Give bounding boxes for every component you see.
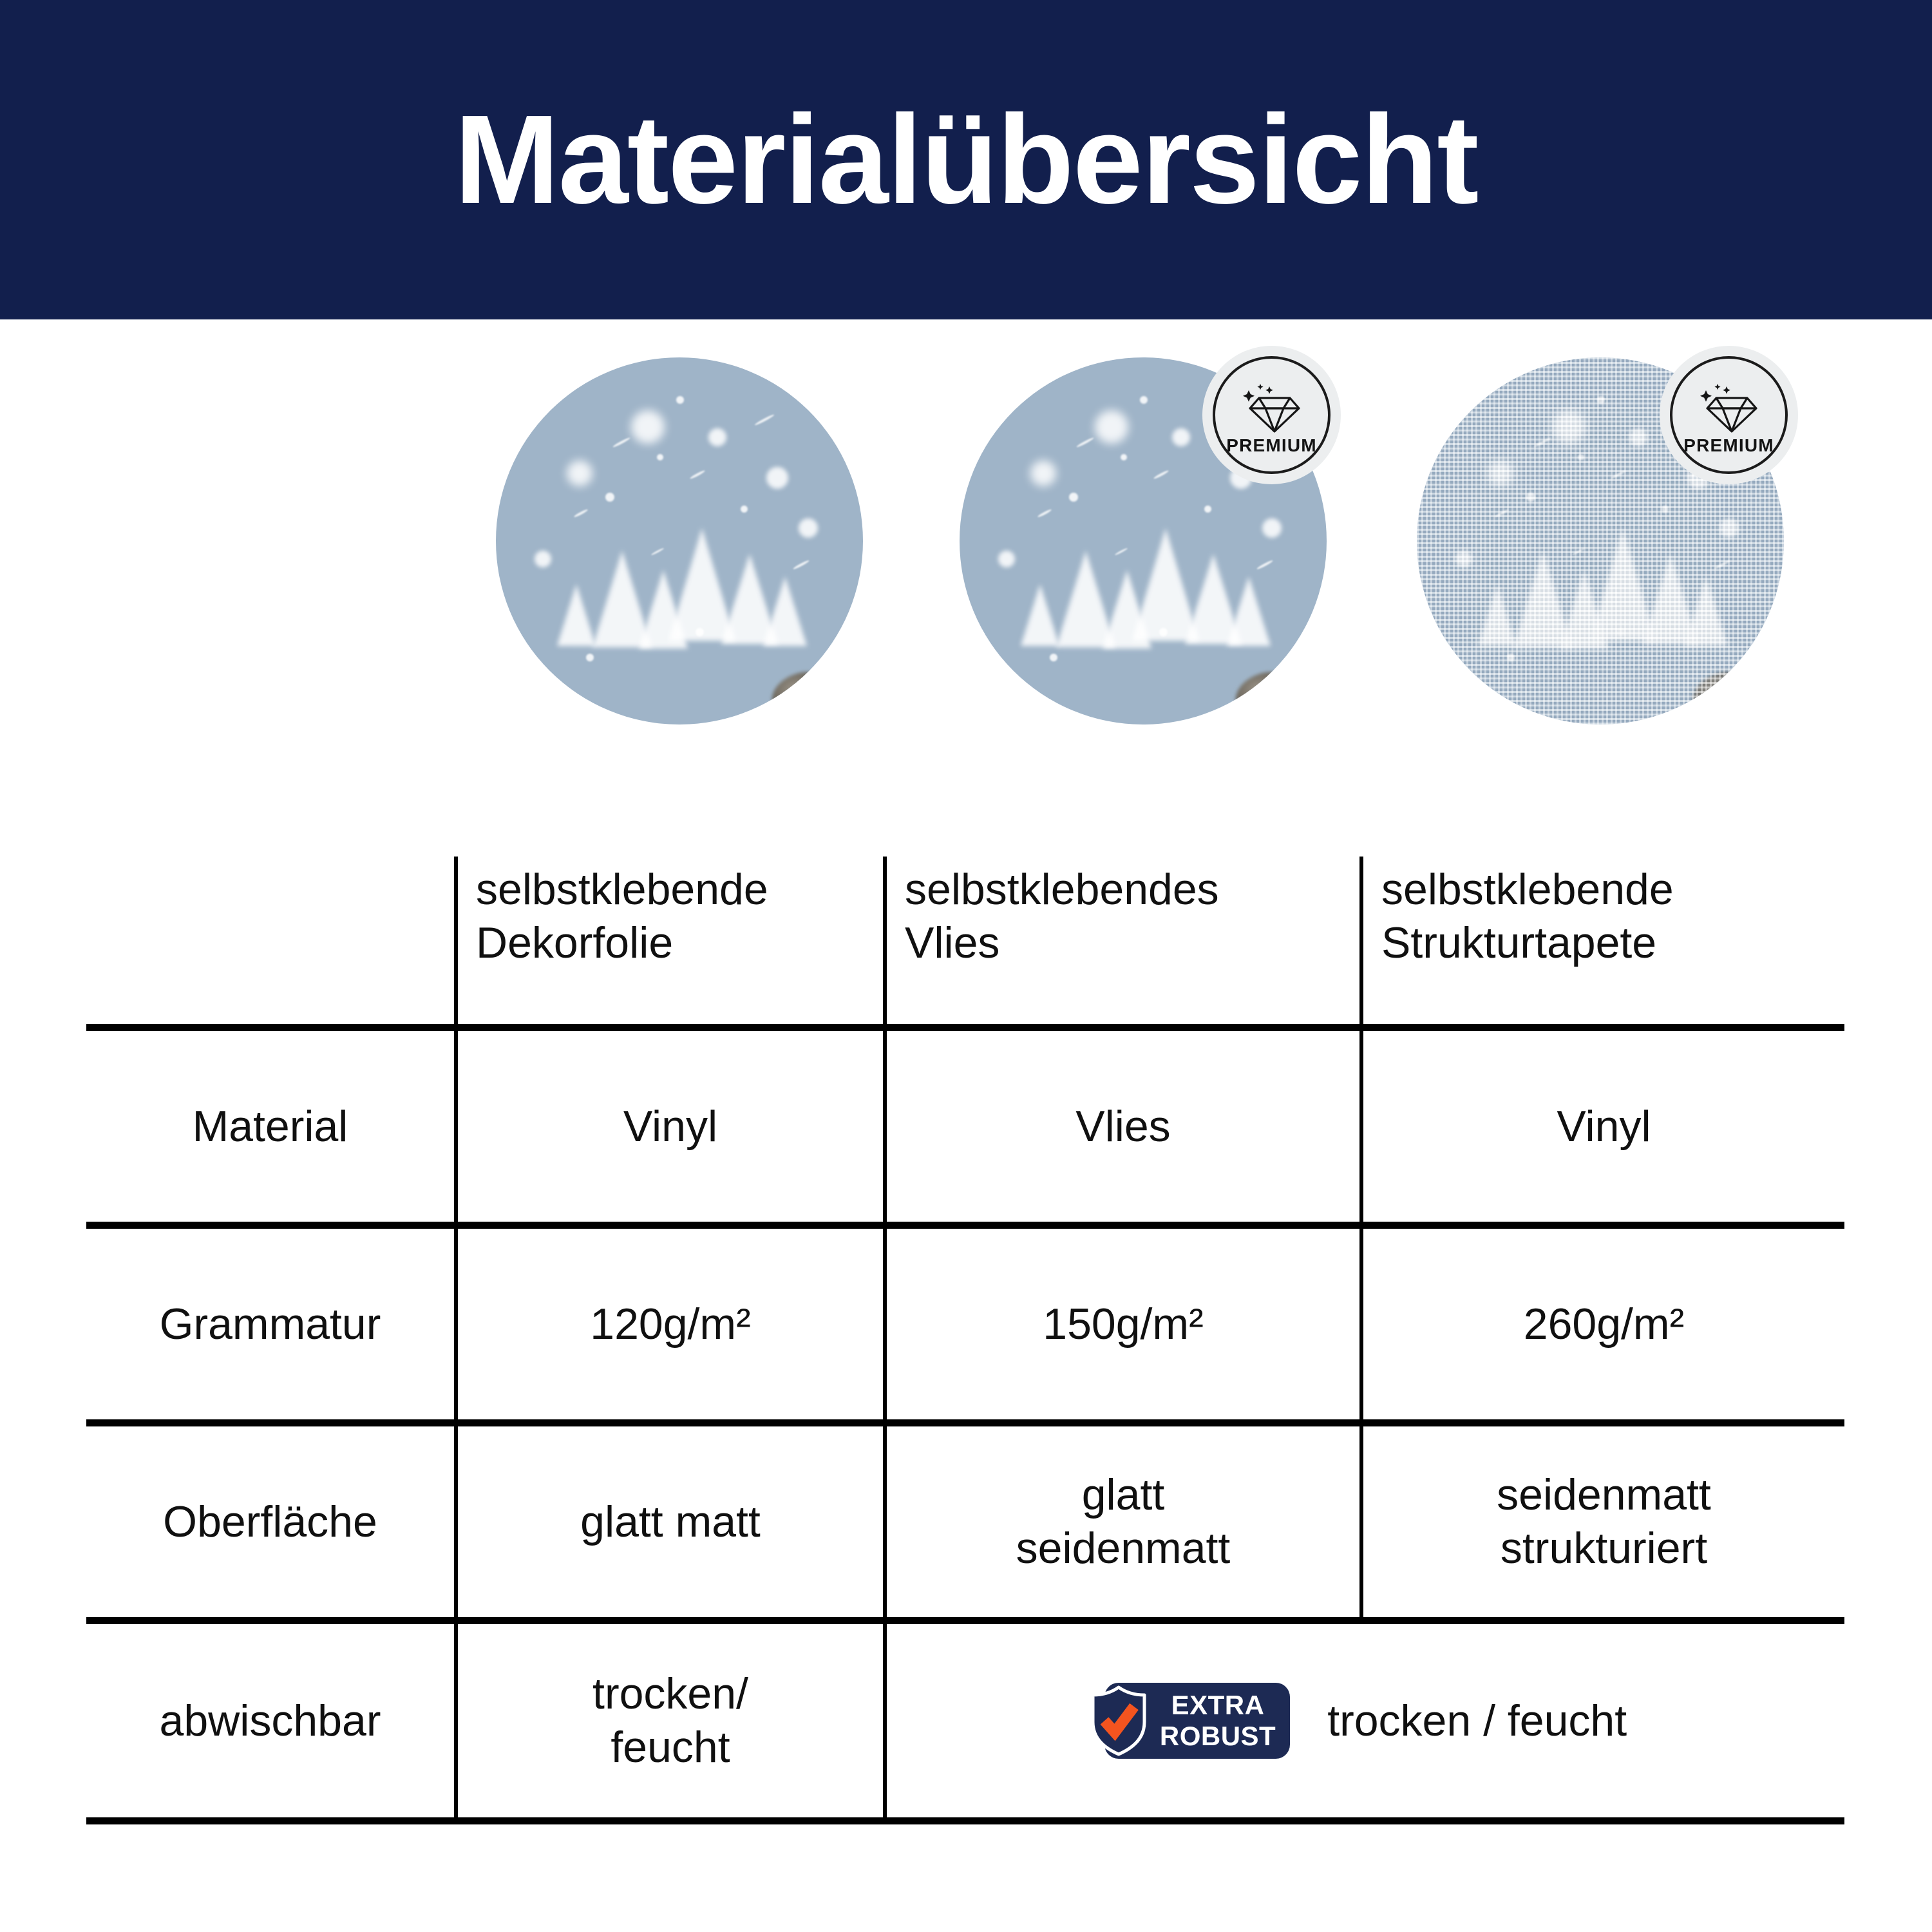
row-label-oberflaeche: Oberfläche [86, 1423, 456, 1621]
cell-grammatur-strukturtapete: 260g/m² [1361, 1226, 1844, 1423]
row-label-material: Material [86, 1028, 456, 1226]
header-col-vlies: selbstklebendes Vlies [885, 857, 1361, 1028]
header-line2: Strukturtapete [1381, 918, 1656, 967]
cell-material-vlies: Vlies [885, 1028, 1361, 1226]
row-label-abwischbar: abwischbar [86, 1621, 456, 1821]
table-row-material: Material Vinyl Vlies Vinyl [86, 1028, 1844, 1226]
value-line1: glatt matt [580, 1497, 761, 1546]
shield-check-icon [1088, 1685, 1150, 1757]
cell-material-strukturtapete: Vinyl [1361, 1028, 1844, 1226]
header-empty-cell [86, 857, 456, 1028]
page-title: Materialübersicht [455, 97, 1478, 223]
cell-oberflaeche-vlies: glatt seidenmatt [885, 1423, 1361, 1621]
cell-grammatur-dekorfolie: 120g/m² [456, 1226, 885, 1423]
table-row-grammatur: Grammatur 120g/m² 150g/m² 260g/m² [86, 1226, 1844, 1423]
cell-oberflaeche-dekorfolie: glatt matt [456, 1423, 885, 1621]
value-line1: glatt [1082, 1470, 1165, 1519]
value-line2: seidenmatt [1016, 1524, 1231, 1573]
swatch-dekorfolie[interactable] [496, 357, 863, 724]
premium-badge-ring: PREMIUM [1213, 356, 1331, 474]
header-col-strukturtapete: selbstklebende Strukturtapete [1361, 857, 1844, 1028]
premium-badge-label: PREMIUM [1226, 435, 1317, 456]
premium-badge-ring: PREMIUM [1670, 356, 1788, 474]
cell-grammatur-vlies: 150g/m² [885, 1226, 1361, 1423]
swatch-image-dekorfolie [496, 357, 863, 724]
table-row-abwischbar: abwischbar trocken/ feucht [86, 1621, 1844, 1821]
diamond-icon [1241, 375, 1303, 433]
extra-robust-line1: EXTRA [1160, 1692, 1276, 1719]
row-label-grammatur: Grammatur [86, 1226, 456, 1423]
extra-robust-label: EXTRA ROBUST [1160, 1692, 1276, 1750]
cell-abwischbar-dekorfolie: trocken/ feucht [456, 1621, 885, 1821]
extra-robust-badge: EXTRA ROBUST [1104, 1683, 1290, 1759]
premium-badge: PREMIUM [1660, 346, 1798, 484]
cell-abwischbar-merged: EXTRA ROBUST trocken / feucht [885, 1621, 1844, 1821]
swatch-strukturtapete[interactable]: PREMIUM [1417, 357, 1784, 724]
value-line1: trocken/ [592, 1669, 748, 1718]
header-line2: Dekorfolie [476, 918, 673, 967]
cell-material-dekorfolie: Vinyl [456, 1028, 885, 1226]
snow-streaks [496, 357, 863, 724]
header-banner: Materialübersicht [0, 0, 1932, 319]
header-line1: selbstklebende [1381, 865, 1674, 914]
cell-oberflaeche-strukturtapete: seidenmatt strukturiert [1361, 1423, 1844, 1621]
premium-badge-label: PREMIUM [1683, 435, 1774, 456]
material-comparison-table: selbstklebende Dekorfolie selbstklebende… [86, 857, 1844, 1823]
swatch-vlies[interactable]: PREMIUM [960, 357, 1327, 724]
premium-badge: PREMIUM [1202, 346, 1341, 484]
header-line1: selbstklebende [476, 865, 768, 914]
table-header-row: selbstklebende Dekorfolie selbstklebende… [86, 857, 1844, 1028]
header-line1: selbstklebendes [905, 865, 1219, 914]
extra-robust-line2: ROBUST [1160, 1723, 1276, 1750]
diamond-icon [1698, 375, 1760, 433]
material-swatch-row: PREMIUM [0, 357, 1932, 757]
cell-abwischbar-merged-text: trocken / feucht [1327, 1694, 1627, 1748]
header-col-dekorfolie: selbstklebende Dekorfolie [456, 857, 885, 1028]
value-line1: seidenmatt [1497, 1470, 1711, 1519]
value-line2: strukturiert [1501, 1524, 1707, 1573]
value-line2: feucht [611, 1723, 730, 1772]
header-line2: Vlies [905, 918, 999, 967]
table-row-oberflaeche: Oberfläche glatt matt glatt seidenmatt s… [86, 1423, 1844, 1621]
